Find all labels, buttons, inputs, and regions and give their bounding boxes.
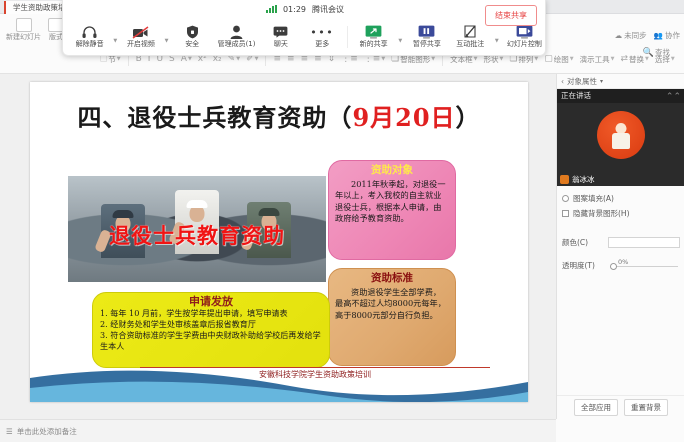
- slide-title[interactable]: 四、退役士兵教育资助（9月20日）: [30, 98, 528, 133]
- yellow-box-item: 3. 符合资助标准的学生学费由中央财政补助给学校后再发给学生本人: [100, 330, 322, 352]
- avatar-figure-icon: [612, 123, 630, 149]
- end-share-button[interactable]: 结束共享: [485, 5, 537, 26]
- chevron-down-icon[interactable]: ▾: [600, 78, 603, 85]
- tencent-meeting-toolbar: 01:29 腾讯会议 解除静音 ▼ 开启视频 ▼ 安全: [62, 0, 546, 56]
- chevron-down-icon: ▼: [236, 56, 240, 62]
- pause-share-button[interactable]: 暂停共享: [405, 24, 448, 49]
- notes-icon: ☰: [6, 427, 13, 436]
- pane-footer: 全部应用 重置背景: [557, 395, 684, 419]
- status-bar: ☰ 单击此处添加备注: [0, 419, 556, 442]
- meeting-timer: 01:29: [283, 5, 306, 14]
- pause-icon: [418, 24, 435, 40]
- add-notes-hint[interactable]: 单击此处添加备注: [17, 426, 77, 437]
- security-button[interactable]: 安全: [172, 24, 213, 49]
- headset-icon: [82, 24, 97, 40]
- shield-icon: [186, 24, 199, 40]
- chevron-up-icon[interactable]: ⌃⌃: [666, 90, 681, 104]
- drawing-button[interactable]: ▢绘图▼: [542, 53, 575, 66]
- pink-box-heading: 资助对象: [335, 165, 449, 177]
- new-slide-button[interactable]: 新建幻灯片: [6, 18, 41, 42]
- chevron-down-icon: ▼: [534, 56, 538, 62]
- wps-presentation-window: 学生资助政策培训 新建幻灯片 版式 🗋 节 ▼ B I U S: [0, 0, 684, 442]
- chevron-down-icon: ▼: [188, 56, 192, 62]
- more-button[interactable]: ••• 更多: [302, 24, 343, 49]
- transparency-slider[interactable]: 0%: [608, 260, 680, 272]
- video-dropdown[interactable]: ▼: [162, 22, 172, 52]
- ellipsis-icon: •••: [310, 24, 334, 40]
- pen-icon: [463, 24, 478, 40]
- sync-status[interactable]: ☁ 未同步: [615, 30, 647, 41]
- toolbar-divider: [347, 26, 348, 48]
- chevron-down-icon: ▼: [499, 56, 503, 62]
- meeting-app-name: 腾讯会议: [312, 4, 344, 15]
- pane-title: 对象属性: [567, 76, 597, 87]
- chat-button[interactable]: 聊天: [260, 24, 301, 49]
- pattern-fill-option[interactable]: 图案填充(A): [562, 191, 680, 206]
- share-screen-icon: [365, 24, 382, 40]
- decoration-shape: [30, 356, 528, 402]
- callout-pink-target[interactable]: 资助对象 2011年秋季起，对退役一年以上，考入我校的自主就业退役士兵，根据本人…: [328, 160, 456, 260]
- callout-orange-standard[interactable]: 资助标准 资助退役学生全部学费，最高不超过人均8000元每年，高于8000元部分…: [328, 268, 456, 366]
- replace-icon: ⇄: [621, 54, 629, 64]
- avatar: [597, 111, 645, 159]
- yellow-box-item: 1. 每年 10 月前，学生按学年提出申请，填写申请表: [100, 308, 322, 319]
- speaking-indicator: 正在讲话 ⌃⌃: [557, 89, 684, 103]
- chevron-down-icon: ▼: [611, 56, 615, 62]
- reset-background-button[interactable]: 重置背景: [624, 399, 668, 416]
- meeting-video-tile[interactable]: 正在讲话 ⌃⌃ 翁冰冰: [557, 89, 684, 186]
- chat-icon: [273, 24, 288, 40]
- annotate-button[interactable]: 互动批注: [449, 24, 492, 49]
- signal-strength-icon: [266, 5, 277, 13]
- person-icon: [230, 24, 243, 40]
- meeting-tools-row: 解除静音 ▼ 开启视频 ▼ 安全 管理成员(1) 聊天: [63, 18, 547, 55]
- drawing-icon: ▢: [544, 54, 553, 64]
- annotate-dropdown[interactable]: ▼: [492, 22, 502, 52]
- object-properties-pane: ‹ 对象属性 ▾ 正在讲话 ⌃⌃ 翁冰冰 图案填充(A): [556, 74, 684, 419]
- video-button[interactable]: 开启视频: [120, 24, 161, 49]
- transparency-setting-row[interactable]: 透明度(T) 0%: [562, 258, 680, 273]
- overlay-headline[interactable]: 退役士兵教育资助: [66, 220, 328, 250]
- new-share-button[interactable]: 新的共享: [352, 24, 395, 49]
- mic-icon: [560, 175, 569, 184]
- transparency-value: 0%: [618, 258, 628, 266]
- chevron-down-icon: ▼: [381, 56, 385, 62]
- present-tools-button[interactable]: 演示工具▼: [578, 53, 617, 66]
- hide-background-graphics-option[interactable]: 隐藏背景图形(H): [562, 206, 680, 221]
- orange-box-heading: 资助标准: [335, 273, 449, 285]
- pane-body: 图案填充(A) 隐藏背景图形(H) 颜色(C) 透明度(T) 0%: [557, 188, 684, 276]
- chevron-left-icon[interactable]: ‹: [561, 77, 564, 86]
- slide-canvas[interactable]: 四、退役士兵教育资助（9月20日）: [30, 82, 528, 402]
- video-off-icon: [132, 24, 149, 40]
- search-button[interactable]: 🔍 查找: [641, 46, 672, 59]
- cloud-icon: ☁: [615, 31, 623, 40]
- slider-knob[interactable]: [610, 263, 617, 270]
- audio-button[interactable]: 解除静音: [69, 24, 110, 49]
- participant-name-chip: 翁冰冰: [557, 173, 595, 186]
- chevron-down-icon: ▼: [255, 56, 259, 62]
- ribbon-right-status: ☁ 未同步 👥 协作: [615, 30, 680, 41]
- chevron-down-icon: ▼: [474, 56, 478, 62]
- meeting-status-row: 01:29 腾讯会议: [63, 0, 547, 18]
- chevron-down-icon: ▼: [431, 56, 435, 62]
- pane-header[interactable]: ‹ 对象属性 ▾: [557, 74, 684, 89]
- audio-dropdown[interactable]: ▼: [110, 22, 120, 52]
- slide-decoration: [30, 356, 528, 402]
- yellow-box-item: 2. 经财务处和学生处审核盖章后报省教育厅: [100, 319, 322, 330]
- slide-editing-area[interactable]: 四、退役士兵教育资助（9月20日）: [0, 74, 556, 419]
- pink-box-body: 2011年秋季起，对退役一年以上，考入我校的自主就业退役士兵，根据本人申请，由政…: [335, 179, 449, 225]
- orange-box-body: 资助退役学生全部学费，最高不超过人均8000元每年，高于8000元部分自行负担。: [335, 287, 449, 322]
- slide-control-button[interactable]: 幻灯片控制: [502, 24, 547, 49]
- color-swatch[interactable]: [608, 237, 680, 248]
- checkbox-icon[interactable]: [562, 210, 569, 217]
- collaborate-button[interactable]: 👥 协作: [654, 30, 680, 41]
- new-share-dropdown[interactable]: ▼: [395, 22, 405, 52]
- yellow-box-heading: 申请发放: [100, 296, 322, 307]
- apply-all-button[interactable]: 全部应用: [574, 399, 618, 416]
- radio-icon[interactable]: [562, 195, 569, 202]
- search-icon: 🔍: [643, 48, 654, 58]
- new-slide-icon: [16, 18, 32, 32]
- people-icon: 👥: [654, 31, 663, 40]
- manage-members-button[interactable]: 管理成员(1): [213, 24, 260, 49]
- chevron-down-icon: ▼: [117, 56, 121, 62]
- slider-track: [616, 266, 678, 267]
- chevron-down-icon: ▼: [570, 56, 574, 62]
- slide-icon: [516, 24, 533, 40]
- color-setting-row[interactable]: 颜色(C): [562, 235, 680, 250]
